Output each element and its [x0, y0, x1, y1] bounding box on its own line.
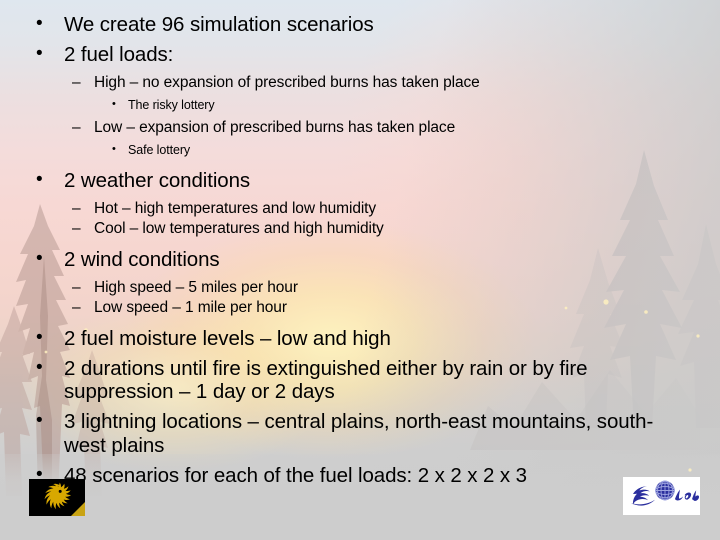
slide: • We create 96 simulation scenarios • 2 …: [0, 0, 720, 540]
bullet-level2: – High – no expansion of prescribed burn…: [72, 74, 720, 92]
bullet-level2: – Cool – low temperatures and high humid…: [72, 220, 720, 238]
bullet-level1: • 2 fuel loads:: [36, 43, 720, 67]
bullet-marker: •: [36, 410, 64, 432]
bullet-marker: •: [112, 143, 128, 156]
bullet-marker: •: [36, 248, 64, 270]
ucf-pegasus-logo: [29, 479, 85, 516]
bullet-text: 3 lightning locations – central plains, …: [64, 410, 682, 458]
bullet-marker: •: [36, 43, 64, 65]
eclab-globe-icon: [623, 477, 700, 515]
bullet-level1: • 48 scenarios for each of the fuel load…: [36, 464, 720, 488]
bullet-level1: • 2 fuel moisture levels – low and high: [36, 327, 720, 351]
eclab-wordmark: [675, 490, 699, 501]
bullet-text: 2 durations until fire is extinguished e…: [64, 357, 682, 405]
bullet-text: Cool – low temperatures and high humidit…: [94, 220, 674, 238]
bullet-level2: – Low – expansion of prescribed burns ha…: [72, 119, 720, 137]
bullet-marker: –: [72, 220, 94, 238]
bullet-text: The risky lottery: [128, 98, 720, 113]
bullet-text: Low speed – 1 mile per hour: [94, 299, 674, 317]
bullet-text: Safe lottery: [128, 143, 720, 158]
bullet-level2: – Low speed – 1 mile per hour: [72, 299, 720, 317]
bullet-text: High speed – 5 miles per hour: [94, 279, 674, 297]
bullet-text: 2 fuel loads:: [64, 43, 682, 67]
bullet-level1: • We create 96 simulation scenarios: [36, 13, 720, 37]
eclab-logo: [623, 477, 700, 515]
bullet-level1: • 2 weather conditions: [36, 169, 720, 193]
bullet-marker: •: [36, 357, 64, 379]
bullet-marker: •: [36, 13, 64, 35]
bullet-text: Hot – high temperatures and low humidity: [94, 200, 674, 218]
bullet-text: 48 scenarios for each of the fuel loads:…: [64, 464, 682, 488]
bullet-text: 2 wind conditions: [64, 248, 682, 272]
ucf-accent-triangle: [71, 502, 85, 516]
bullet-level2: – Hot – high temperatures and low humidi…: [72, 200, 720, 218]
bullet-marker: –: [72, 74, 94, 92]
bullet-text: 2 weather conditions: [64, 169, 682, 193]
bullet-text: Low – expansion of prescribed burns has …: [94, 119, 674, 137]
slide-body: • We create 96 simulation scenarios • 2 …: [0, 0, 720, 487]
bullet-marker: –: [72, 200, 94, 218]
bullet-marker: –: [72, 279, 94, 297]
bullet-marker: •: [112, 98, 128, 111]
bullet-marker: •: [36, 169, 64, 191]
bullet-level1: • 3 lightning locations – central plains…: [36, 410, 720, 458]
bullet-level3: • Safe lottery: [112, 143, 720, 158]
bullet-text: High – no expansion of prescribed burns …: [94, 74, 674, 92]
bullet-level2: – High speed – 5 miles per hour: [72, 279, 720, 297]
bullet-marker: –: [72, 299, 94, 317]
bullet-marker: •: [36, 327, 64, 349]
bullet-level1: • 2 wind conditions: [36, 248, 720, 272]
bullet-text: 2 fuel moisture levels – low and high: [64, 327, 682, 351]
bullet-marker: –: [72, 119, 94, 137]
bullet-text: We create 96 simulation scenarios: [64, 13, 682, 37]
bullet-level3: • The risky lottery: [112, 98, 720, 113]
bullet-level1: • 2 durations until fire is extinguished…: [36, 357, 720, 405]
